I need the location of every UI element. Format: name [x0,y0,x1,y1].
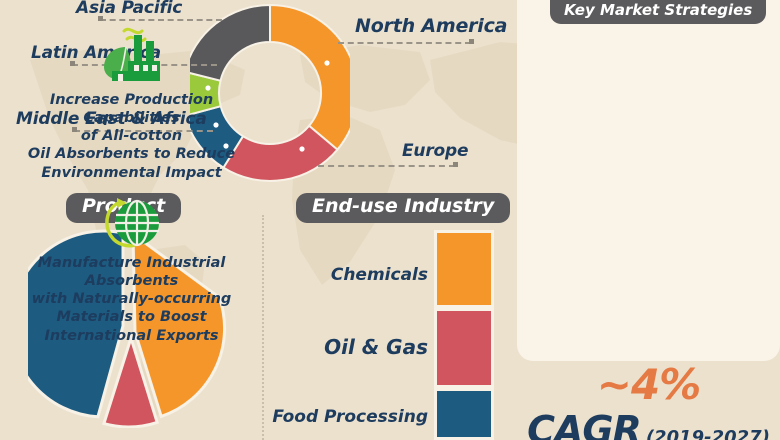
cagr-percent: ~4% [517,364,780,406]
region-label-north-america: North America [355,17,507,36]
leader-line-north-america [338,42,471,44]
strategy-1-line-2: of All-cotton [6,127,257,145]
enduse-label-oil-gas: Oil & Gas [324,337,428,357]
section-title-key-market-strategies: Key Market Strategies [550,0,766,24]
enduse-label-chemicals: Chemicals [331,267,428,284]
cagr-row: CAGR(2019-2027) [517,408,780,440]
enduse-stacked-bar[interactable] [434,230,494,440]
strategy-2-line-2: with Naturally-occurring [6,290,257,308]
region-label-asia-pacific: Asia Pacific [76,0,182,17]
strategy-2-line-4: International Exports [6,327,257,345]
leader-line-europe [318,165,455,167]
section-title-enduse-industry: End-use Industry [296,193,510,223]
cagr-years: (2019-2027) [646,427,770,440]
strategy-text-1: Increase Production Capabilities of All-… [0,91,263,182]
leader-line-asia-pacific [100,19,222,21]
cagr-callout: ~4% CAGR(2019-2027) [517,362,780,440]
strategy-1-line-4: Environmental Impact [6,164,257,182]
bar-segment-chemicals[interactable] [434,230,494,308]
enduse-label-food-processing: Food Processing [272,409,428,426]
cagr-word: CAGR [527,408,641,440]
strategy-text-2: Manufacture Industrial Absorbents with N… [0,254,263,345]
donut-dot-north-america [324,60,329,65]
strategy-2-line-3: Materials to Boost [6,308,257,326]
green-globe-icon [101,196,163,250]
strategy-item-2: Manufacture Industrial Absorbents with N… [0,196,263,345]
leader-endpoint-europe [453,162,458,167]
strategy-1-line-3: Oil Absorbents to Reduce [6,145,257,163]
strategy-2-line-1: Manufacture Industrial Absorbents [6,254,257,290]
infographic-canvas: Asia Pacific Latin America Middle East &… [0,0,780,440]
green-factory-icon [98,25,166,87]
bar-segment-oil-gas[interactable] [434,308,494,388]
strategy-item-1: Increase Production Capabilities of All-… [0,25,263,182]
key-market-strategies-panel [517,0,780,361]
donut-dot-europe [299,146,304,151]
strategy-1-line-1: Increase Production Capabilities [6,91,257,127]
region-label-europe: Europe [402,143,468,160]
leader-endpoint-north-america [469,39,474,44]
bar-segment-food-processing[interactable] [434,388,494,440]
